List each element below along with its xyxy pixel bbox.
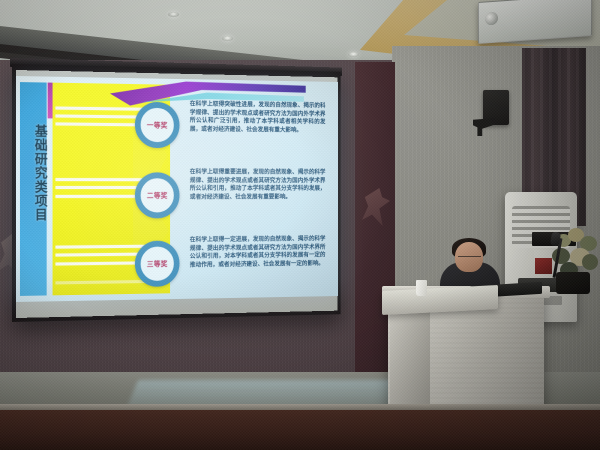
ceiling-downlight <box>168 12 179 17</box>
ceiling-downlight <box>348 52 359 57</box>
flower-petal <box>582 254 598 270</box>
slide-paragraph-second: 在科学上取得重要进展，发现的自然现象、揭示的科学规律、提出的学术观点或者其研究方… <box>190 169 326 202</box>
speaker-person-glasses-icon <box>458 256 481 261</box>
gift-box <box>535 258 552 274</box>
award-label-second: 二等奖 <box>147 190 168 200</box>
slide-paragraph-first: 在科学上取得突破性进展，发现的自然现象、揭示的科学规律、提出的学术观点或者研究方… <box>190 101 326 136</box>
slide-paragraph-third: 在科学上取得一定进展，发现的自然现象、揭示的科学规律、提出的学术观点或者其研究方… <box>190 236 326 270</box>
ceiling-downlight <box>222 36 233 41</box>
conference-room: 基础研究类项目 一等奖 二等奖 <box>0 0 600 450</box>
slide-award-circle-second: 二等奖 <box>135 172 180 218</box>
slide-award-circle-first: 一等奖 <box>135 102 180 148</box>
projected-slide: 基础研究类项目 一等奖 二等奖 <box>16 76 338 302</box>
award-label-third: 三等奖 <box>147 259 168 269</box>
flower-vase <box>556 272 590 294</box>
projector-lens-icon <box>485 12 498 26</box>
screenshot-root: 基础研究类项目 一等奖 二等奖 <box>0 0 600 450</box>
stage-front-panel <box>0 410 600 450</box>
award-label-first: 一等奖 <box>147 120 168 130</box>
desk-support <box>390 306 430 406</box>
water-cup <box>416 280 427 296</box>
slide-title-vertical: 基础研究类项目 <box>20 124 47 222</box>
